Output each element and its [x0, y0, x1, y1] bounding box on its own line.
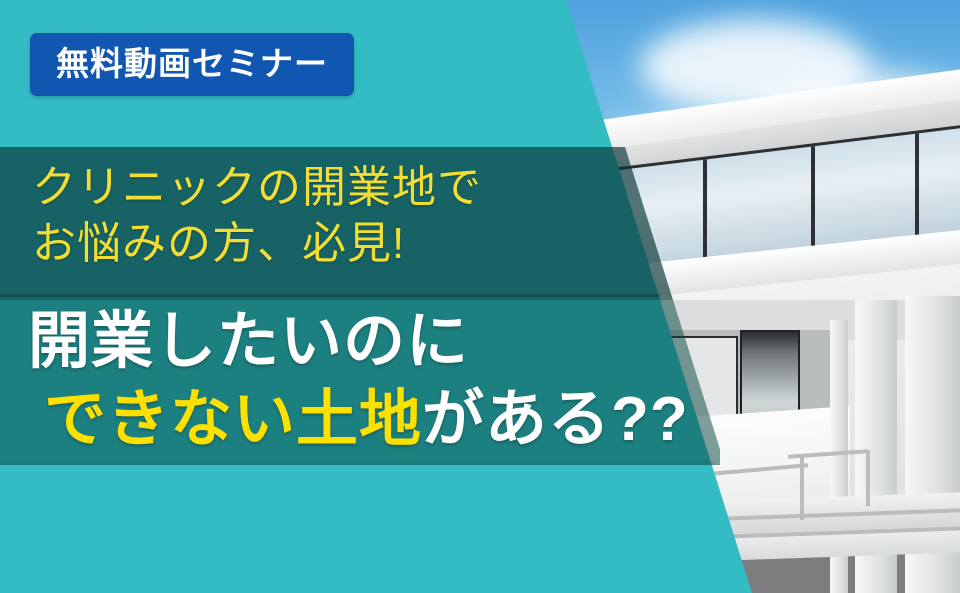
handrail-post — [866, 450, 870, 506]
seminar-banner: 無料動画セミナー クリニックの開業地で お悩みの方、必見! 開業したいのに でき… — [0, 0, 960, 593]
window-mullion — [811, 146, 815, 260]
band-divider — [0, 462, 716, 465]
headline-text: 開業したいのに できない土地がある?? — [28, 303, 689, 458]
band-divider — [0, 294, 660, 297]
headline-line-1: 開業したいのに — [28, 307, 469, 376]
seminar-badge: 無料動画セミナー — [30, 33, 354, 96]
headline-line-2: できない土地がある?? — [28, 381, 689, 459]
headline-line-2-rest: がある?? — [422, 385, 689, 454]
headline-highlight: できない土地 — [44, 385, 422, 454]
window-mullion — [915, 133, 919, 247]
subheading-text: クリニックの開業地で お悩みの方、必見! — [32, 160, 482, 273]
